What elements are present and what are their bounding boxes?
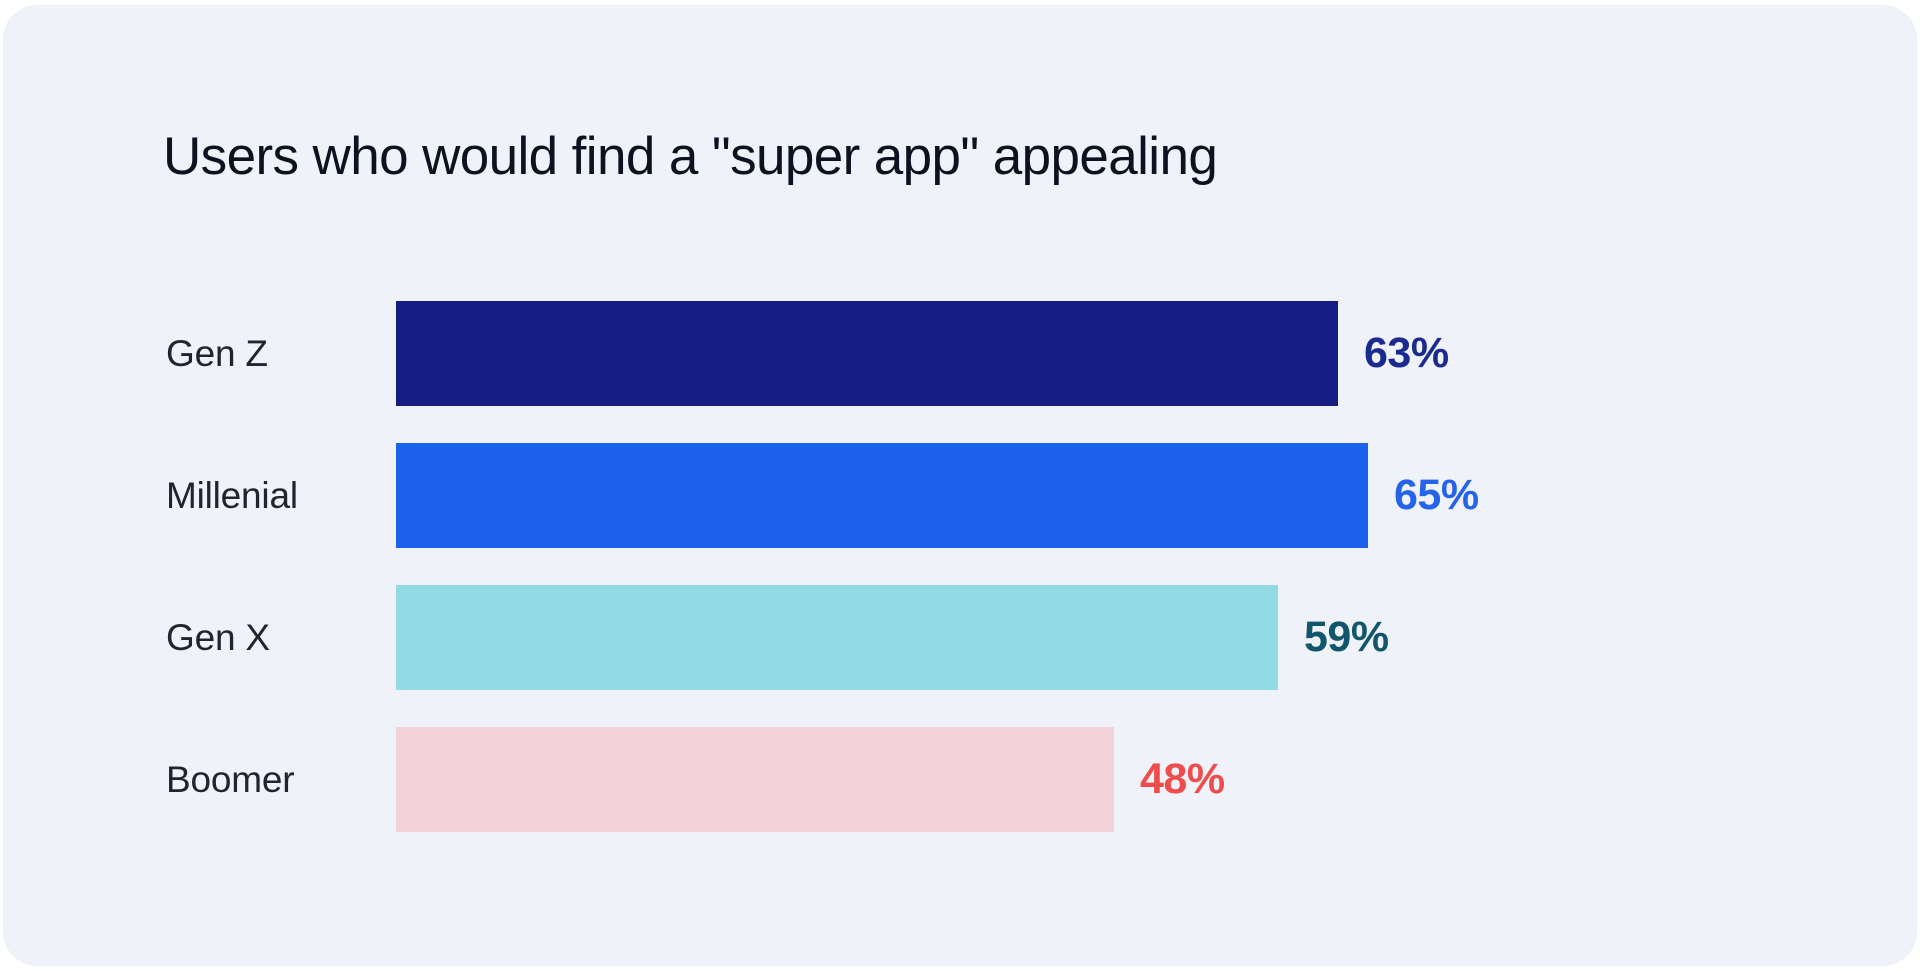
bar-chart-plot-area: Gen Z 63% Millenial 65% Gen X 59% Boomer xyxy=(3,301,1917,831)
bar-track: 59% xyxy=(396,585,1917,690)
bar-value-label: 59% xyxy=(1304,585,1389,690)
bar-category-label: Gen Z xyxy=(3,301,333,406)
bar-row: Millenial 65% xyxy=(3,443,1917,548)
bar-category-label: Boomer xyxy=(3,727,333,832)
bar-row: Boomer 48% xyxy=(3,727,1917,832)
bar-track: 48% xyxy=(396,727,1917,832)
bar-category-label: Millenial xyxy=(3,443,333,548)
bar-fill xyxy=(396,727,1114,832)
bar-value-label: 48% xyxy=(1140,727,1225,832)
bar-row: Gen X 59% xyxy=(3,585,1917,690)
bar-track: 63% xyxy=(396,301,1917,406)
bar-category-label: Gen X xyxy=(3,585,333,690)
bar-track: 65% xyxy=(396,443,1917,548)
bar-value-label: 63% xyxy=(1364,301,1449,406)
bar-fill xyxy=(396,585,1278,690)
bar-fill xyxy=(396,301,1338,406)
bar-value-label: 65% xyxy=(1394,443,1479,548)
chart-title: Users who would find a "super app" appea… xyxy=(163,129,1217,185)
bar-fill xyxy=(396,443,1368,548)
chart-card: Users who would find a "super app" appea… xyxy=(3,5,1917,966)
bar-row: Gen Z 63% xyxy=(3,301,1917,406)
